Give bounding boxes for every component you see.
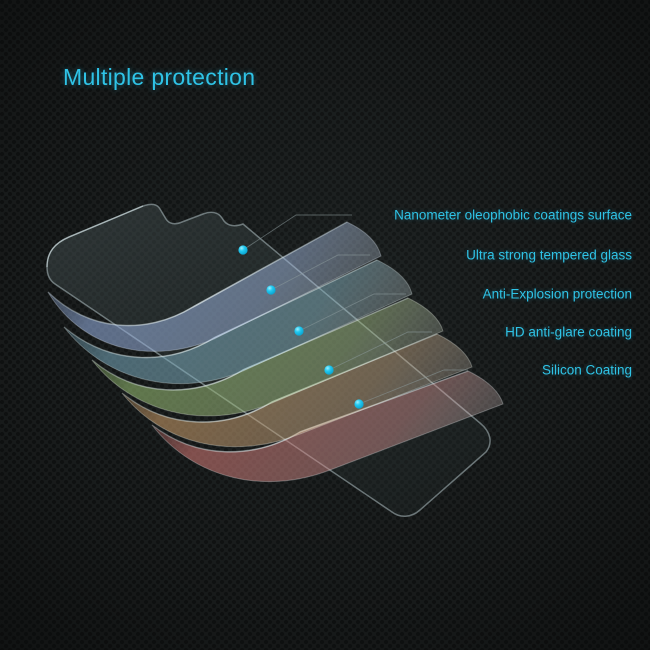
layer-label-1: Nanometer oleophobic coatings surface xyxy=(394,208,632,223)
layer-label-5: Silicon Coating xyxy=(542,363,632,378)
callout-dot-4 xyxy=(324,365,333,374)
callout-dot-1 xyxy=(238,245,247,254)
layer-label-3: Anti-Explosion protection xyxy=(483,287,632,302)
layer-label-2: Ultra strong tempered glass xyxy=(466,248,632,263)
callout-dot-2 xyxy=(266,285,275,294)
callout-dot-5 xyxy=(354,399,363,408)
layer-label-4: HD anti-glare coating xyxy=(505,325,632,340)
callout-dot-3 xyxy=(294,326,303,335)
product-feature-graphic: Multiple protection xyxy=(0,0,650,650)
